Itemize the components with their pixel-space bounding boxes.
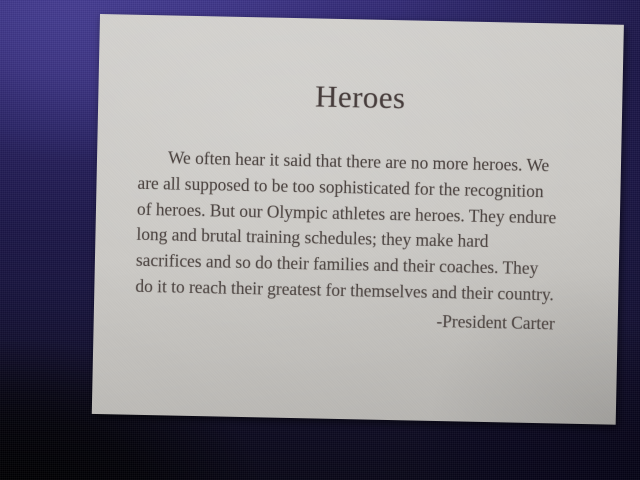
sign-attribution: -President Carter: [135, 303, 601, 338]
paper-sign: Heroes We often hear it said that there …: [92, 14, 624, 425]
photo-scene: Heroes We often hear it said that there …: [0, 0, 640, 480]
sign-body: We often hear it said that there are no …: [135, 145, 558, 308]
sign-content: Heroes We often hear it said that there …: [92, 14, 624, 425]
sign-title: Heroes: [98, 76, 623, 118]
sign-body-paragraph: We often hear it said that there are no …: [135, 145, 558, 308]
